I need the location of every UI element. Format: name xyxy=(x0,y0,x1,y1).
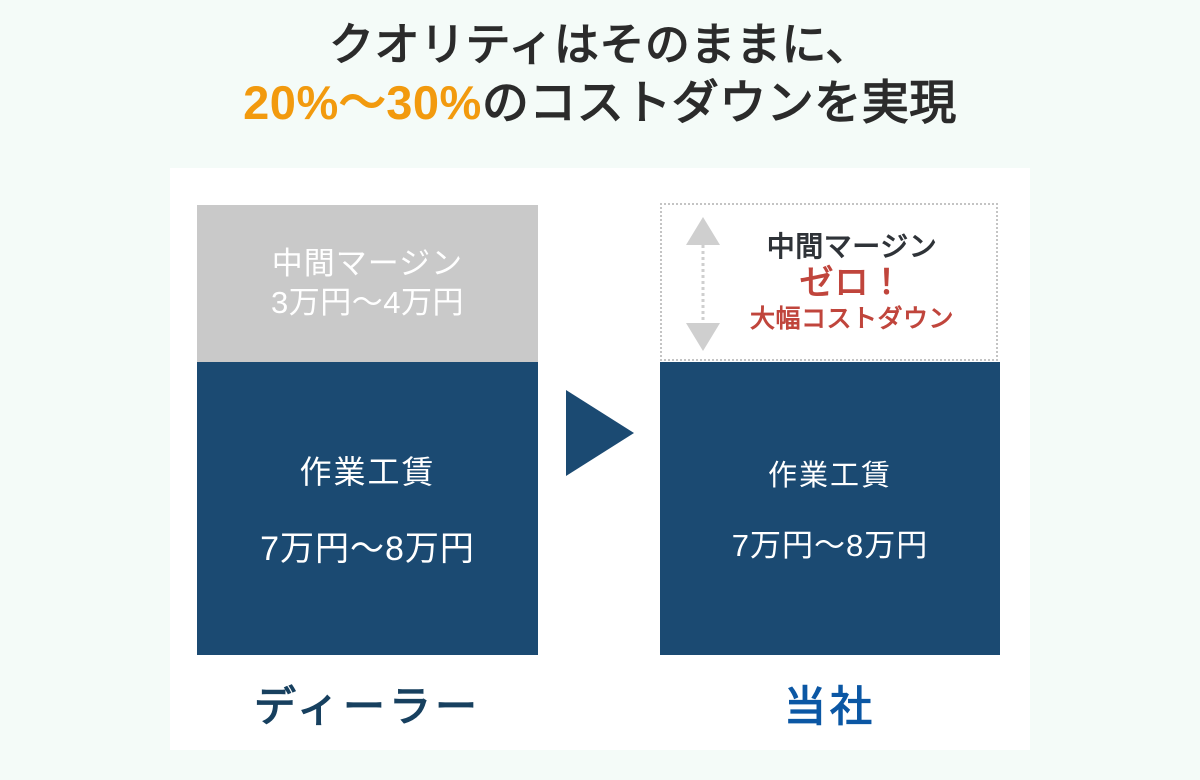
dealer-margin-title: 中間マージン xyxy=(272,245,463,284)
dealer-caption: ディーラー xyxy=(197,673,538,734)
page-title: クオリティはそのままに、 20%〜30%のコストダウンを実現 xyxy=(0,18,1200,131)
dealer-margin-amount: 3万円〜4万円 xyxy=(271,284,464,323)
our-company-labor-amount: 7万円〜8万円 xyxy=(732,520,928,565)
our-company-margin-highlight: ゼロ！ xyxy=(714,265,990,302)
our-company-caption: 当社 xyxy=(660,673,1000,734)
headline-line-2-rest: のコストダウンを実現 xyxy=(482,76,957,129)
our-company-labor-bar: 作業工賃 7万円〜8万円 xyxy=(660,362,1000,655)
our-company-margin-title: 中間マージン xyxy=(714,231,990,263)
triangle-right-icon xyxy=(566,390,634,476)
comparison-card: 中間マージン 3万円〜4万円 作業工賃 7万円〜8万円 ディーラー 中間マージン… xyxy=(170,168,1030,750)
headline-line-2: 20%〜30%のコストダウンを実現 xyxy=(0,75,1200,130)
zero-margin-texts: 中間マージン ゼロ！ 大幅コストダウン xyxy=(714,231,990,333)
dealer-labor-title: 作業工賃 xyxy=(299,447,435,493)
dealer-margin-bar: 中間マージン 3万円〜4万円 xyxy=(197,205,538,362)
our-company-margin-subtext: 大幅コストダウン xyxy=(714,304,990,333)
our-company-zero-margin-box: 中間マージン ゼロ！ 大幅コストダウン xyxy=(660,203,998,361)
headline-percent-range: 20%〜30% xyxy=(243,76,482,129)
dealer-labor-bar: 作業工賃 7万円〜8万円 xyxy=(197,362,538,655)
dealer-labor-amount: 7万円〜8万円 xyxy=(260,521,475,570)
headline-line-1: クオリティはそのままに、 xyxy=(0,18,1200,71)
our-company-labor-title: 作業工賃 xyxy=(768,452,892,494)
